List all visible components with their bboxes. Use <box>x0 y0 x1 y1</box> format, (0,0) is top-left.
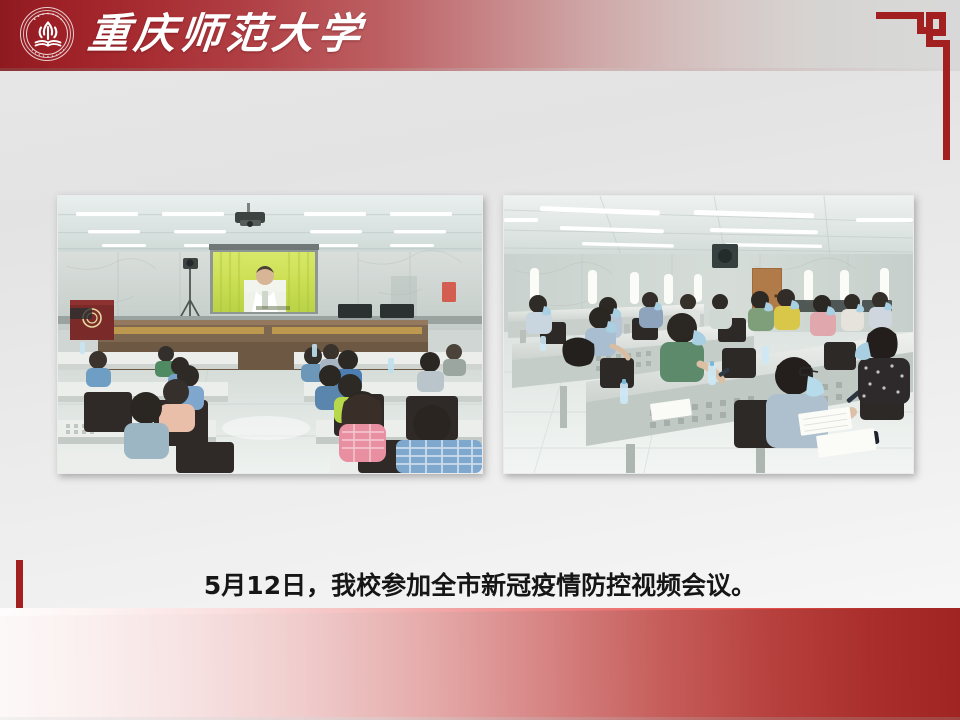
header-underline <box>0 68 960 71</box>
chinese-corner-ornament-top-right <box>876 8 952 160</box>
university-name-title: 重庆师范大学 <box>85 4 367 64</box>
bottom-gradient-fill <box>0 608 960 720</box>
photo-attendees-taking-notes <box>503 195 914 474</box>
photo-video-conference-hall <box>57 195 483 474</box>
presentation-slide: 重庆师范大学 <box>0 0 960 720</box>
slide-caption: 5月12日，我校参加全市新冠疫情防控视频会议。 <box>0 566 960 602</box>
bottom-decorative-band <box>0 608 960 720</box>
university-logo-icon <box>19 6 77 64</box>
